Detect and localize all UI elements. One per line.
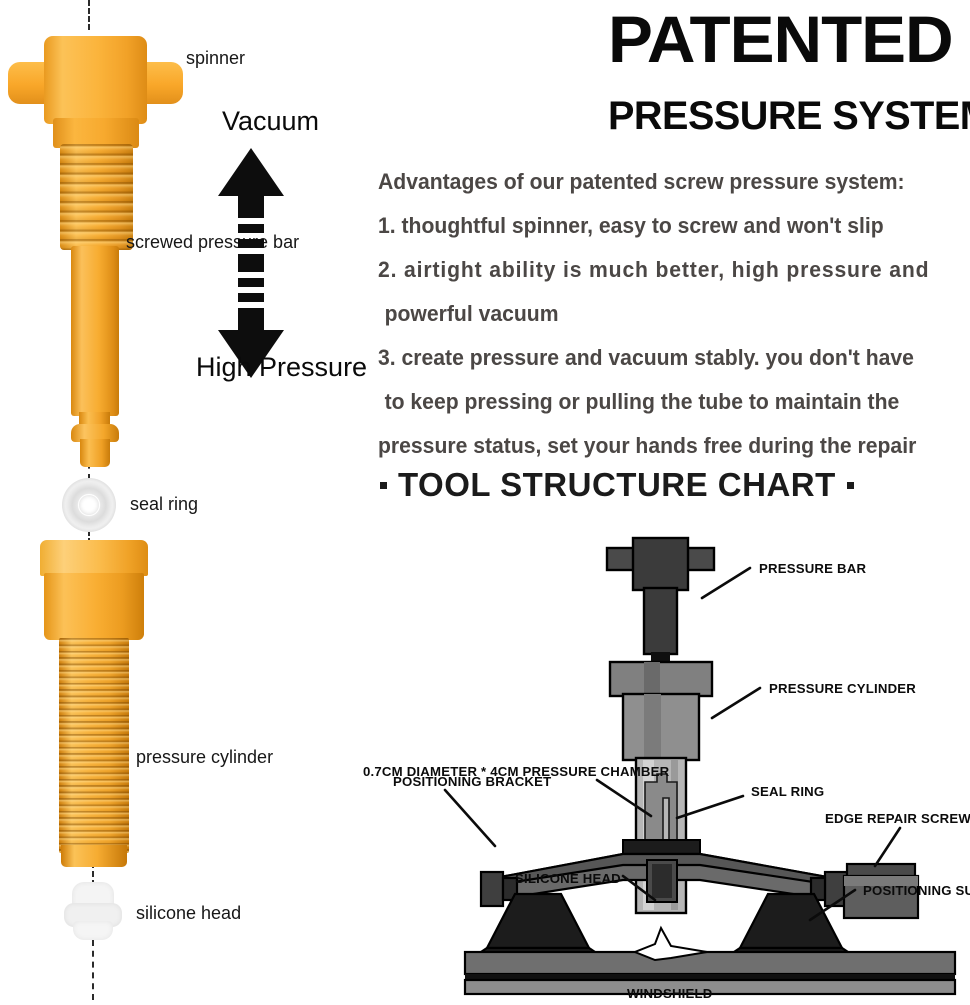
label-high-pressure: High Pressure [196,352,367,382]
infographic-canvas: PATENTED PRESSURE SYSTEM Advantages of o… [0,0,970,1000]
cylinder-cap-body [44,573,144,640]
arrow-down-stem [238,308,264,330]
diagram-cylinder-collar [610,662,712,696]
shaft-tip-end [80,439,110,467]
advantages-intro: Advantages of our patented screw pressur… [378,160,923,204]
diagram-pressure-bar-head [607,538,714,590]
leader-pressure-bar [702,568,750,598]
diagram-label-seal-ring: SEAL RING [751,784,824,799]
pressure-cylinder-photo [28,540,173,880]
arrow-down-dash-2 [238,278,264,287]
diagram-label-pressure-bar: PRESSURE BAR [759,561,866,576]
arrow-up-dash-2 [238,239,264,248]
alignment-dash-line-top [88,0,90,30]
advantage-item-1: 1. thoughtful spinner, easy to screw and… [378,204,923,248]
headline-pressure-system: PRESSURE SYSTEM [608,96,951,136]
advantage-item-3: 3. create pressure and vacuum stably. yo… [378,336,923,380]
spinner-head [44,36,147,124]
cylinder-cap-top [40,540,148,576]
label-vacuum: Vacuum [222,106,319,136]
leader-positioning-bracket [445,790,495,846]
diagram-label-silicone-head: SILICONE HEAD [515,871,621,886]
leader-pressure-cylinder [712,688,760,718]
arrow-up-dash-3 [238,254,264,263]
diagram-pressure-bar-shaft [644,588,677,654]
pressure-bar-shaft [71,246,119,416]
leader-edge-repair-screw [875,828,900,866]
arrow-up-icon [218,148,284,196]
tool-structure-chart-heading: TOOL STRUCTURE CHART [380,466,955,504]
diagram-label-edge-repair-screw: EDGE REPAIR SCREW [825,811,970,826]
spinner-threaded-section [60,144,133,250]
flow-arrow-group [238,148,284,263]
label-spinner: spinner [186,48,245,68]
square-bullet-left-icon [380,482,387,489]
diagram-label-positioning-suction-cup: POSITIONING SUCTION CUP [863,883,970,898]
label-pressure-cylinder: pressure cylinder [136,747,273,767]
arrow-down-dash-3 [238,293,264,302]
arrow-up-dash-1 [238,224,264,233]
arrow-up-stem [238,196,264,218]
advantages-block: Advantages of our patented screw pressur… [378,160,958,468]
seal-ring-part [62,478,116,532]
headline-patented: PATENTED [608,6,955,72]
label-silicone-head: silicone head [136,903,241,923]
advantage-item-2: 2. airtight ability is much better, high… [378,248,923,292]
diagram-label-windshield: WINDSHIELD [627,986,713,1000]
arrow-down-dash-1 [238,263,264,272]
silicone-head-base [73,921,113,940]
silicone-head-part [62,882,124,944]
cylinder-foot [61,845,127,867]
diagram-label-pressure-cylinder: PRESSURE CYLINDER [769,681,916,696]
alignment-dash-line-bottom [92,940,94,1000]
tool-structure-diagram: PRESSURE BAR PRESSURE CYLINDER 0.7CM DIA… [355,528,970,1000]
diagram-label-positioning-bracket: POSITIONING BRACKET [393,774,551,789]
cylinder-threaded-body [59,638,129,853]
label-seal-ring: seal ring [130,494,198,514]
advantage-item-2-cont: powerful vacuum [378,292,923,336]
advantage-item-3-cont-a: to keep pressing or pulling the tube to … [378,380,923,424]
tool-structure-chart-title: TOOL STRUCTURE CHART [398,466,836,504]
square-bullet-right-icon [847,482,854,489]
advantage-item-3-cont-b: pressure status, set your hands free dur… [378,424,923,468]
